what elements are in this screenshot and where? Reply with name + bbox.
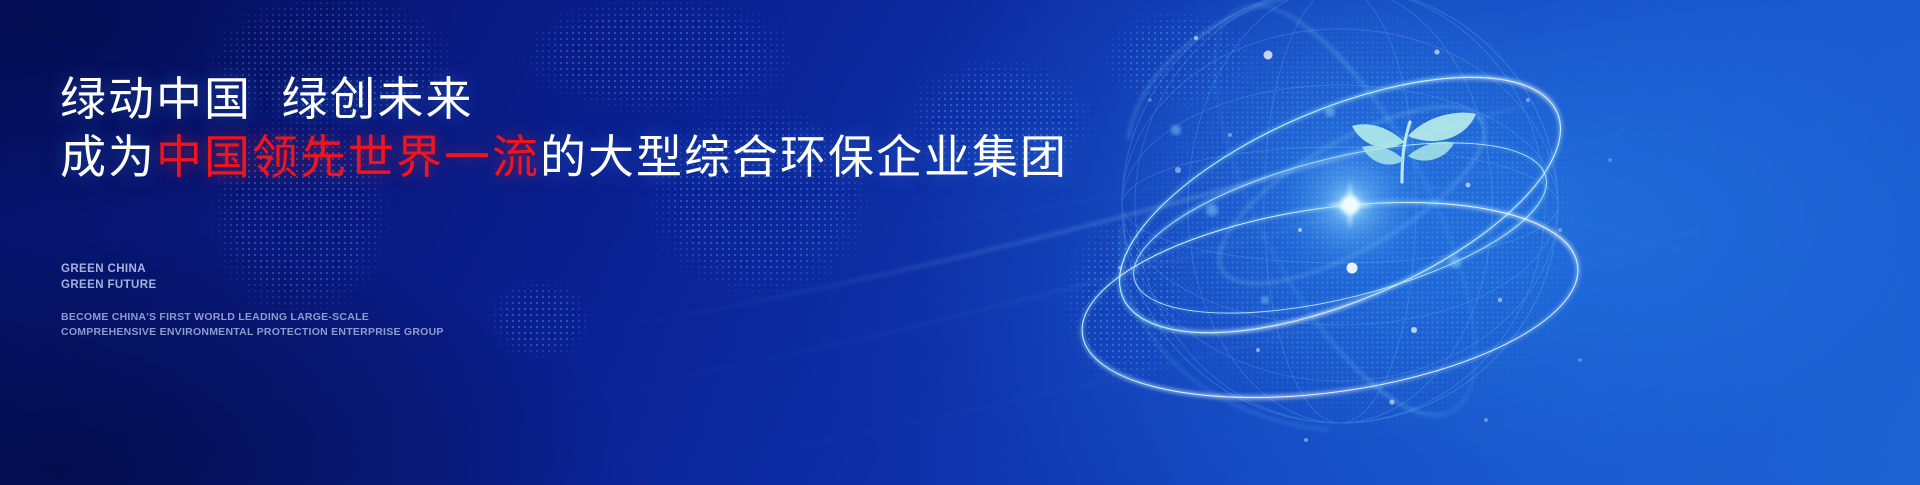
slogan-english: GREEN CHINA GREEN FUTURE [61, 262, 157, 294]
headline-line-2-suffix: 的大型综合环保企业集团 [540, 131, 1068, 183]
headline-line-2-prefix: 成为 [60, 131, 156, 183]
headline-line-1: 绿动中国 绿创未来 [60, 74, 1060, 126]
hero-banner: 绿动中国 绿创未来 成为中国领先世界一流的大型综合环保企业集团 GREEN CH… [0, 0, 1920, 485]
headline-line-2: 成为中国领先世界一流的大型综合环保企业集团 [60, 132, 1060, 184]
tagline-english: BECOME CHINA'S FIRST WORLD LEADING LARGE… [61, 310, 444, 340]
headline-line-2-highlight: 中国领先世界一流 [156, 131, 540, 183]
headline-block: 绿动中国 绿创未来 成为中国领先世界一流的大型综合环保企业集团 [60, 74, 1060, 183]
